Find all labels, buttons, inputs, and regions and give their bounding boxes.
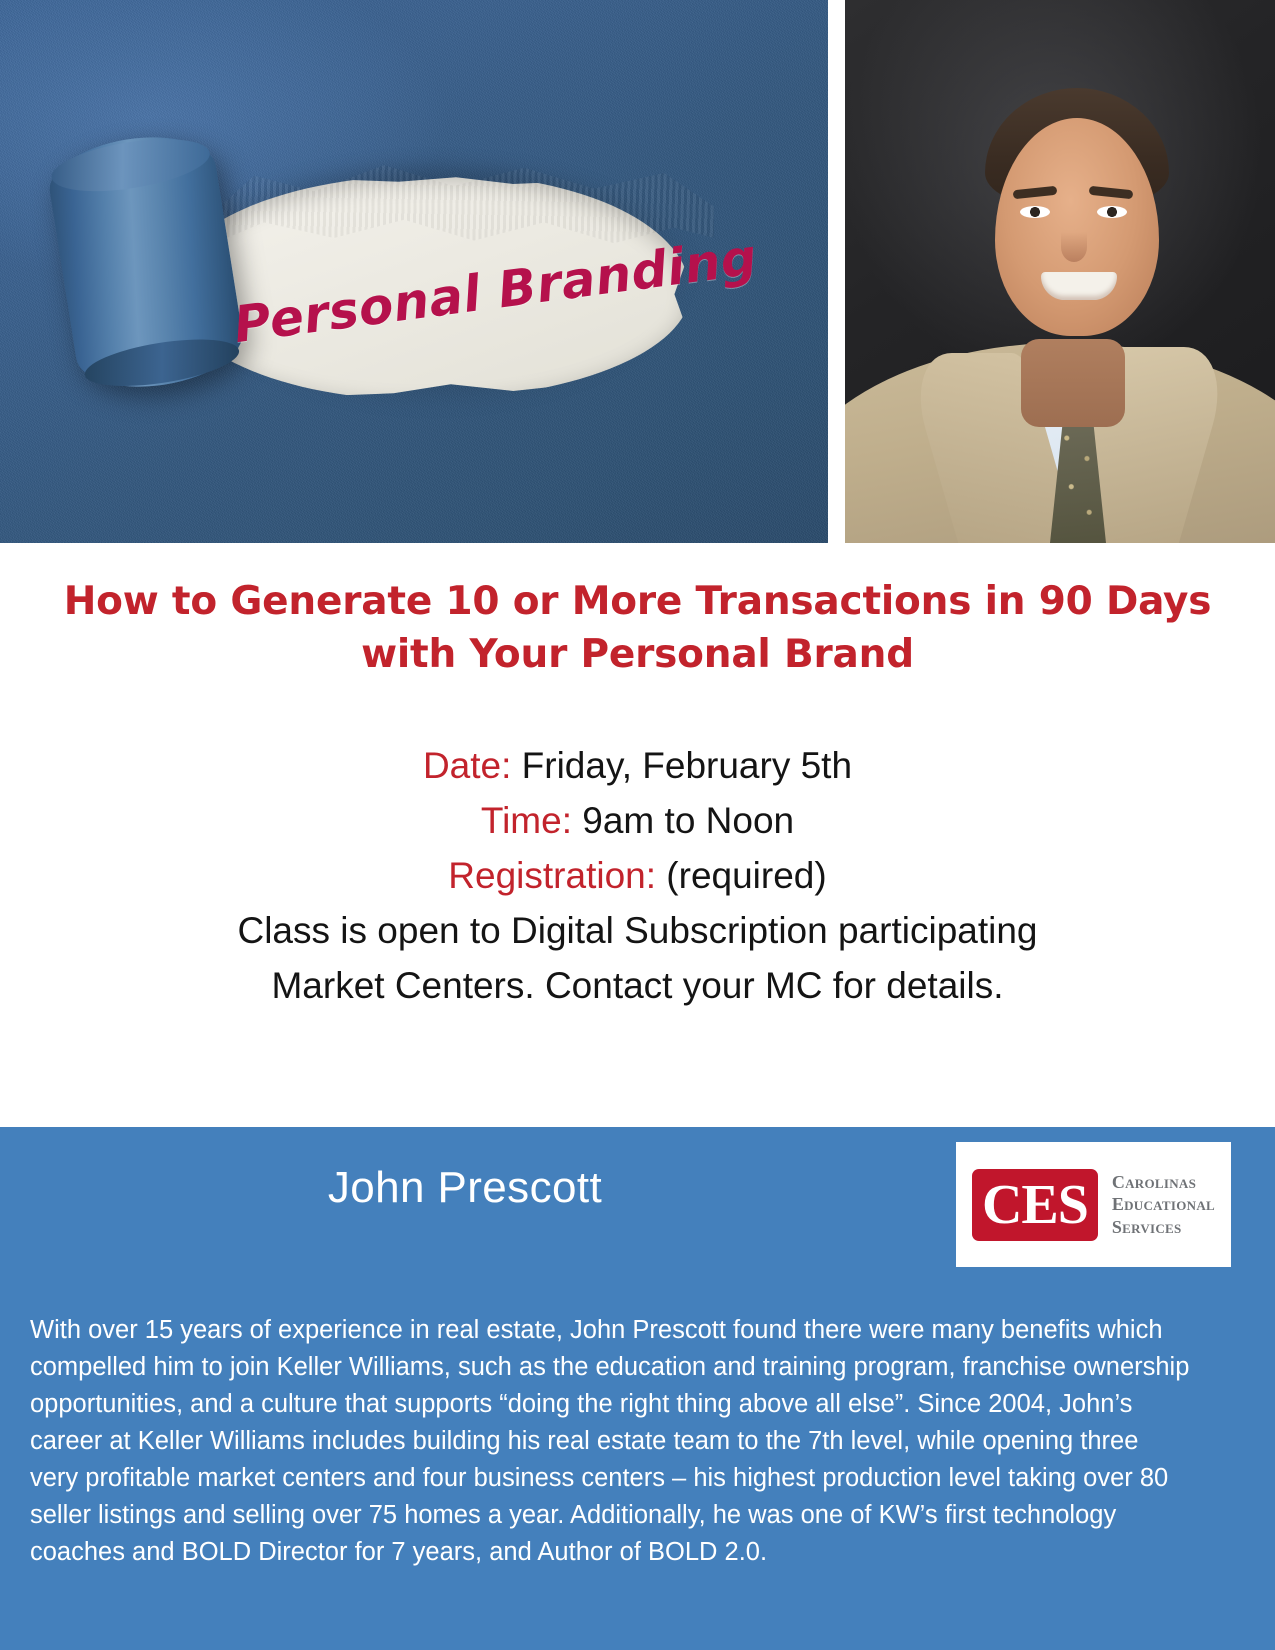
torn-paper-image: Personal Branding xyxy=(0,0,828,543)
event-details: Date: Friday, February 5th Time: 9am to … xyxy=(0,738,1275,1013)
speaker-portrait-photo xyxy=(845,0,1275,543)
registration-value: (required) xyxy=(666,855,826,896)
speaker-section: John Prescott CES Carolinas Educational … xyxy=(0,1127,1275,1650)
portrait-smile xyxy=(1041,272,1117,300)
date-value: Friday, February 5th xyxy=(522,745,852,786)
registration-label: Registration: xyxy=(448,855,656,896)
portrait-right-eye xyxy=(1097,206,1127,218)
detail-row-time: Time: 9am to Noon xyxy=(0,793,1275,848)
eligibility-note-line-1: Class is open to Digital Subscription pa… xyxy=(0,903,1275,958)
speaker-bio: With over 15 years of experience in real… xyxy=(30,1312,1190,1571)
ces-monogram-icon: CES xyxy=(972,1169,1098,1241)
detail-row-registration: Registration: (required) xyxy=(0,848,1275,903)
ces-monogram-text: CES xyxy=(982,1177,1088,1233)
ces-wordmark: Carolinas Educational Services xyxy=(1112,1172,1215,1236)
ces-logo: CES Carolinas Educational Services xyxy=(956,1142,1231,1267)
ces-word-services: Services xyxy=(1112,1217,1215,1237)
portrait-nose xyxy=(1061,232,1087,262)
title-line-2: with Your Personal Brand xyxy=(24,628,1251,681)
time-value: 9am to Noon xyxy=(582,800,794,841)
ces-word-carolinas: Carolinas xyxy=(1112,1172,1215,1192)
flyer-page: Personal Branding How to Generate 10 or … xyxy=(0,0,1275,1650)
hero-image-row: Personal Branding xyxy=(0,0,1275,545)
time-label: Time: xyxy=(481,800,572,841)
date-label: Date: xyxy=(423,745,511,786)
title-line-1: How to Generate 10 or More Transactions … xyxy=(24,575,1251,628)
page-title: How to Generate 10 or More Transactions … xyxy=(0,575,1275,681)
detail-row-date: Date: Friday, February 5th xyxy=(0,738,1275,793)
eligibility-note-line-2: Market Centers. Contact your MC for deta… xyxy=(0,958,1275,1013)
speaker-name: John Prescott xyxy=(0,1163,930,1213)
ces-word-educational: Educational xyxy=(1112,1194,1215,1214)
portrait-neck xyxy=(1021,339,1125,427)
portrait-left-eye xyxy=(1020,206,1050,218)
